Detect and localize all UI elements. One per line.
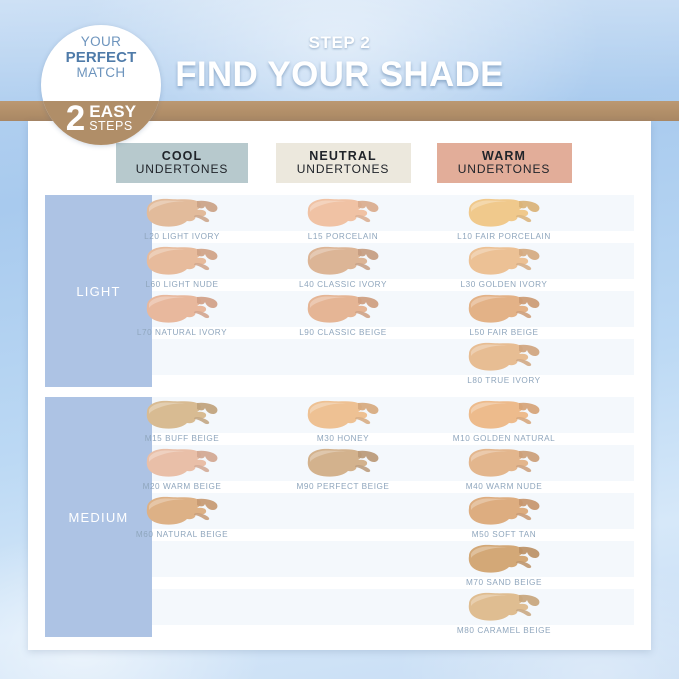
shade-name-label: L50 FAIR BEIGE [424, 328, 584, 337]
shade-name-label: M20 WARM BEIGE [102, 482, 262, 491]
shade-cell[interactable]: L80 TRUE IVORY [424, 340, 584, 385]
shade-cell[interactable]: M10 GOLDEN NATURAL [424, 398, 584, 443]
shade-cell[interactable]: M20 WARM BEIGE [102, 446, 262, 491]
shade-swatch [459, 244, 549, 278]
shade-name-label: M40 WARM NUDE [424, 482, 584, 491]
shade-name-label: M15 BUFF BEIGE [102, 434, 262, 443]
shade-name-label: M50 SOFT TAN [424, 530, 584, 539]
shade-swatch [137, 196, 227, 230]
shade-swatch [137, 446, 227, 480]
perfect-match-badge: YOUR PERFECT MATCH 2 EASY STEPS [41, 25, 161, 145]
badge-top-text: YOUR PERFECT MATCH [41, 35, 161, 80]
shade-name-label: L80 TRUE IVORY [424, 376, 584, 385]
shade-name-label: M60 NATURAL BEIGE [102, 530, 262, 539]
badge-line-1: YOUR [41, 35, 161, 50]
shade-swatch [459, 398, 549, 432]
shade-name-label: L60 LIGHT NUDE [102, 280, 262, 289]
badge-line-3: MATCH [41, 66, 161, 81]
shade-cell[interactable]: L30 GOLDEN IVORY [424, 244, 584, 289]
shade-swatch [137, 494, 227, 528]
shade-name-label: L30 GOLDEN IVORY [424, 280, 584, 289]
shade-swatch [298, 398, 388, 432]
shade-cell[interactable]: M30 HONEY [263, 398, 423, 443]
shade-cell[interactable]: M70 SAND BEIGE [424, 542, 584, 587]
shade-swatch [298, 196, 388, 230]
shade-cell[interactable]: L15 PORCELAIN [263, 196, 423, 241]
shade-swatch [298, 292, 388, 326]
shade-name-label: M30 HONEY [263, 434, 423, 443]
shade-cell[interactable]: M50 SOFT TAN [424, 494, 584, 539]
shade-name-label: L20 LIGHT IVORY [102, 232, 262, 241]
shade-cell[interactable]: M90 PERFECT BEIGE [263, 446, 423, 491]
shade-name-label: L90 CLASSIC BEIGE [263, 328, 423, 337]
shade-swatch [298, 244, 388, 278]
shade-swatch [137, 398, 227, 432]
shade-grid: LIGHTL20 LIGHT IVORYL15 PORCELAINL10 FAI… [28, 121, 651, 650]
shade-swatch [459, 590, 549, 624]
badge-steps-stack: EASY STEPS [89, 102, 136, 133]
shade-cell[interactable]: L90 CLASSIC BEIGE [263, 292, 423, 337]
shade-cell[interactable]: M80 CARAMEL BEIGE [424, 590, 584, 635]
shade-cell[interactable]: L60 LIGHT NUDE [102, 244, 262, 289]
shade-swatch [137, 292, 227, 326]
shade-name-label: L70 NATURAL IVORY [102, 328, 262, 337]
shade-name-label: L40 CLASSIC IVORY [263, 280, 423, 289]
shade-name-label: M70 SAND BEIGE [424, 578, 584, 587]
badge-number: 2 [66, 102, 85, 135]
shade-finder-card: COOLUNDERTONESNEUTRALUNDERTONESWARMUNDER… [28, 121, 651, 650]
shade-name-label: L10 FAIR PORCELAIN [424, 232, 584, 241]
shade-cell[interactable]: M60 NATURAL BEIGE [102, 494, 262, 539]
shade-swatch [137, 244, 227, 278]
shade-swatch [459, 292, 549, 326]
shade-swatch [459, 196, 549, 230]
shade-cell[interactable]: L10 FAIR PORCELAIN [424, 196, 584, 241]
badge-line-2: PERFECT [41, 50, 161, 66]
badge-easy-label: EASY [89, 103, 136, 120]
shade-cell[interactable]: M15 BUFF BEIGE [102, 398, 262, 443]
shade-cell[interactable]: L40 CLASSIC IVORY [263, 244, 423, 289]
shade-name-label: L15 PORCELAIN [263, 232, 423, 241]
shade-cell[interactable]: M40 WARM NUDE [424, 446, 584, 491]
shade-cell[interactable]: L70 NATURAL IVORY [102, 292, 262, 337]
shade-swatch [459, 542, 549, 576]
shade-cell[interactable]: L20 LIGHT IVORY [102, 196, 262, 241]
shade-swatch [459, 494, 549, 528]
shade-swatch [459, 340, 549, 374]
badge-steps-label: STEPS [89, 120, 136, 133]
shade-name-label: M80 CARAMEL BEIGE [424, 626, 584, 635]
shade-cell[interactable]: L50 FAIR BEIGE [424, 292, 584, 337]
badge-bottom-text: 2 EASY STEPS [41, 102, 161, 135]
shade-swatch [459, 446, 549, 480]
shade-name-label: M10 GOLDEN NATURAL [424, 434, 584, 443]
shade-name-label: M90 PERFECT BEIGE [263, 482, 423, 491]
shade-swatch [298, 446, 388, 480]
